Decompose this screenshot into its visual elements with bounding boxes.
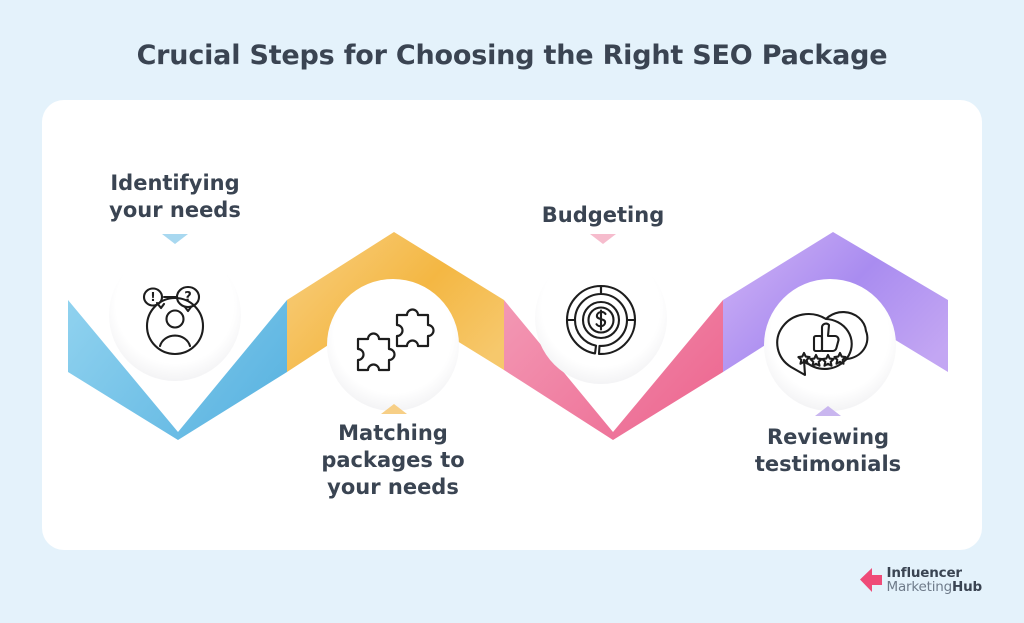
logo-line-2: MarketingHub	[887, 580, 982, 594]
page-title: Crucial Steps for Choosing the Right SEO…	[0, 40, 1024, 71]
step-label-1: Identifying your needs	[75, 170, 275, 224]
infographic-card	[42, 100, 982, 550]
logo-line-1: Influencer	[887, 566, 982, 580]
step-pointer-4-up-icon	[815, 406, 841, 416]
logo-hub-text: Hub	[952, 579, 982, 595]
step-label-4: Reviewing testimonials	[728, 424, 928, 478]
step-pointer-1-down-icon	[162, 234, 188, 244]
brand-logo: Influencer MarketingHub	[860, 566, 982, 595]
logo-marketing-text: Marketing	[887, 579, 952, 595]
step-pointer-3-down-icon	[590, 234, 616, 244]
step-label-2: Matching packages to your needs	[293, 420, 493, 501]
left-arrow-icon	[860, 568, 882, 592]
step-pointer-2-up-icon	[381, 404, 407, 414]
step-label-3: Budgeting	[503, 202, 703, 229]
